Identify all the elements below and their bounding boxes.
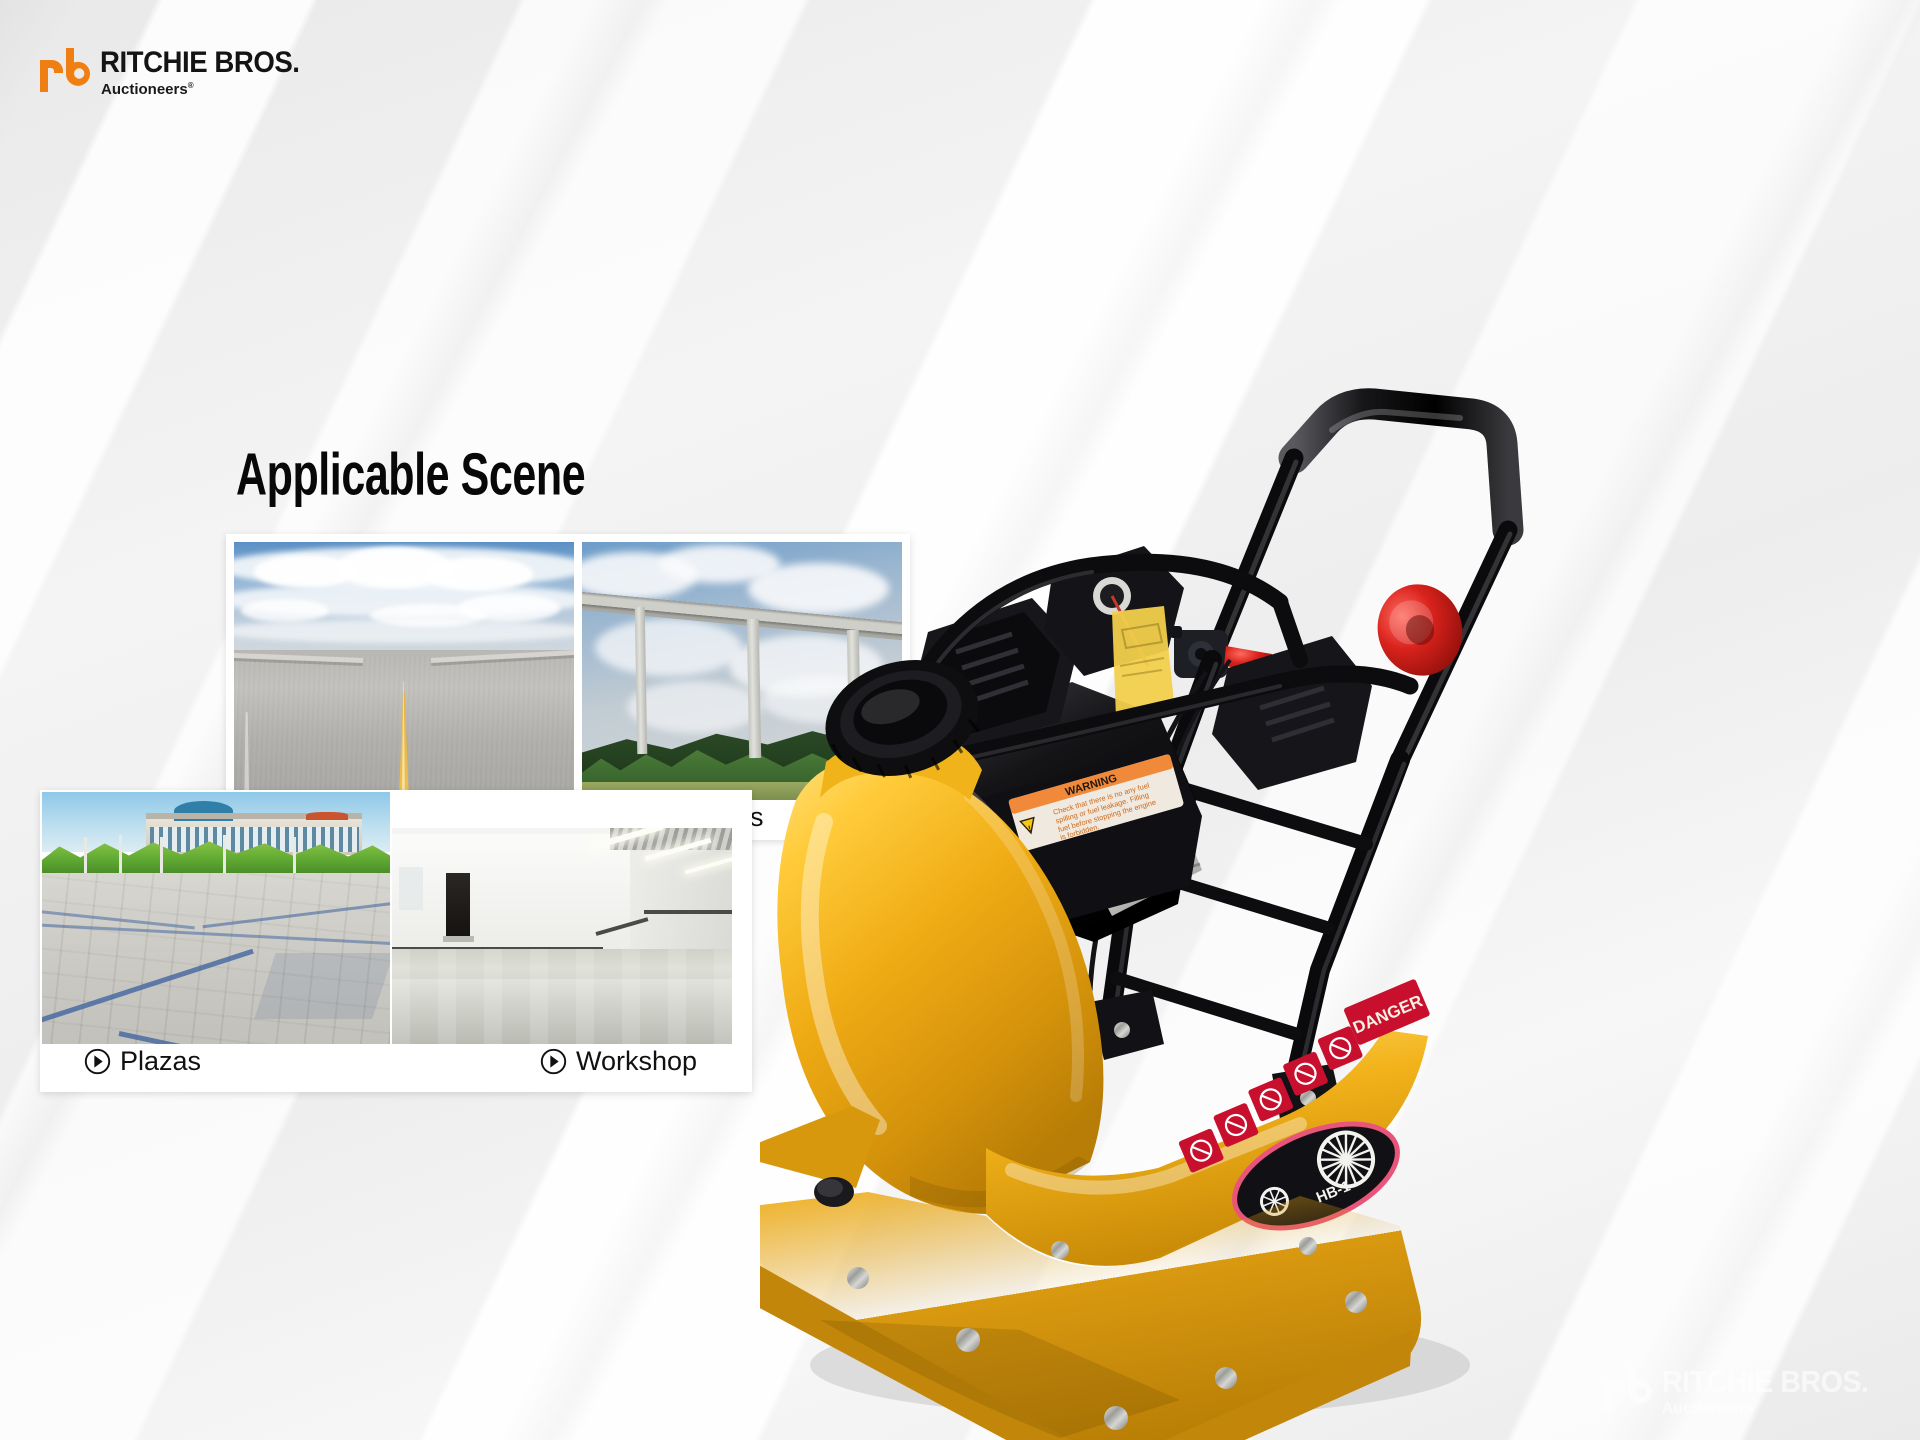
watermark-brand-name: RITCHIE BROS.	[1662, 1366, 1868, 1397]
brand-tagline: Auctioneers®	[101, 81, 317, 98]
compactor-handle-assembly: WARNING Check that there is no any fuel …	[760, 330, 1900, 1440]
scene-caption-workshop: Workshop	[540, 1046, 697, 1077]
product-image-plate-compactor: WARNING Check that there is no any fuel …	[760, 330, 1900, 1440]
scene-label-workshop: Workshop	[576, 1046, 697, 1077]
scene-image-highway	[234, 542, 574, 800]
play-circle-icon	[84, 1048, 111, 1075]
scene-image-plazas	[42, 792, 390, 1044]
scene-image-workshop	[392, 828, 732, 1044]
scene-label-plazas: Plazas	[120, 1046, 201, 1077]
rb-monogram-icon	[38, 46, 90, 94]
brand-logo: RITCHIE BROS. Auctioneers®	[38, 46, 317, 98]
brand-name: RITCHIE BROS.	[100, 48, 300, 78]
rb-monogram-icon	[1600, 1364, 1652, 1412]
play-circle-icon	[540, 1048, 567, 1075]
watermark-tagline: Auctioneers	[1662, 1400, 1886, 1418]
page-title: Applicable Scene	[236, 440, 585, 508]
scene-card-bottom-row: Plazas Workshop	[40, 790, 752, 1092]
watermark-logo: RITCHIE BROS. Auctioneers	[1600, 1364, 1886, 1418]
scene-caption-plazas: Plazas	[84, 1046, 201, 1077]
